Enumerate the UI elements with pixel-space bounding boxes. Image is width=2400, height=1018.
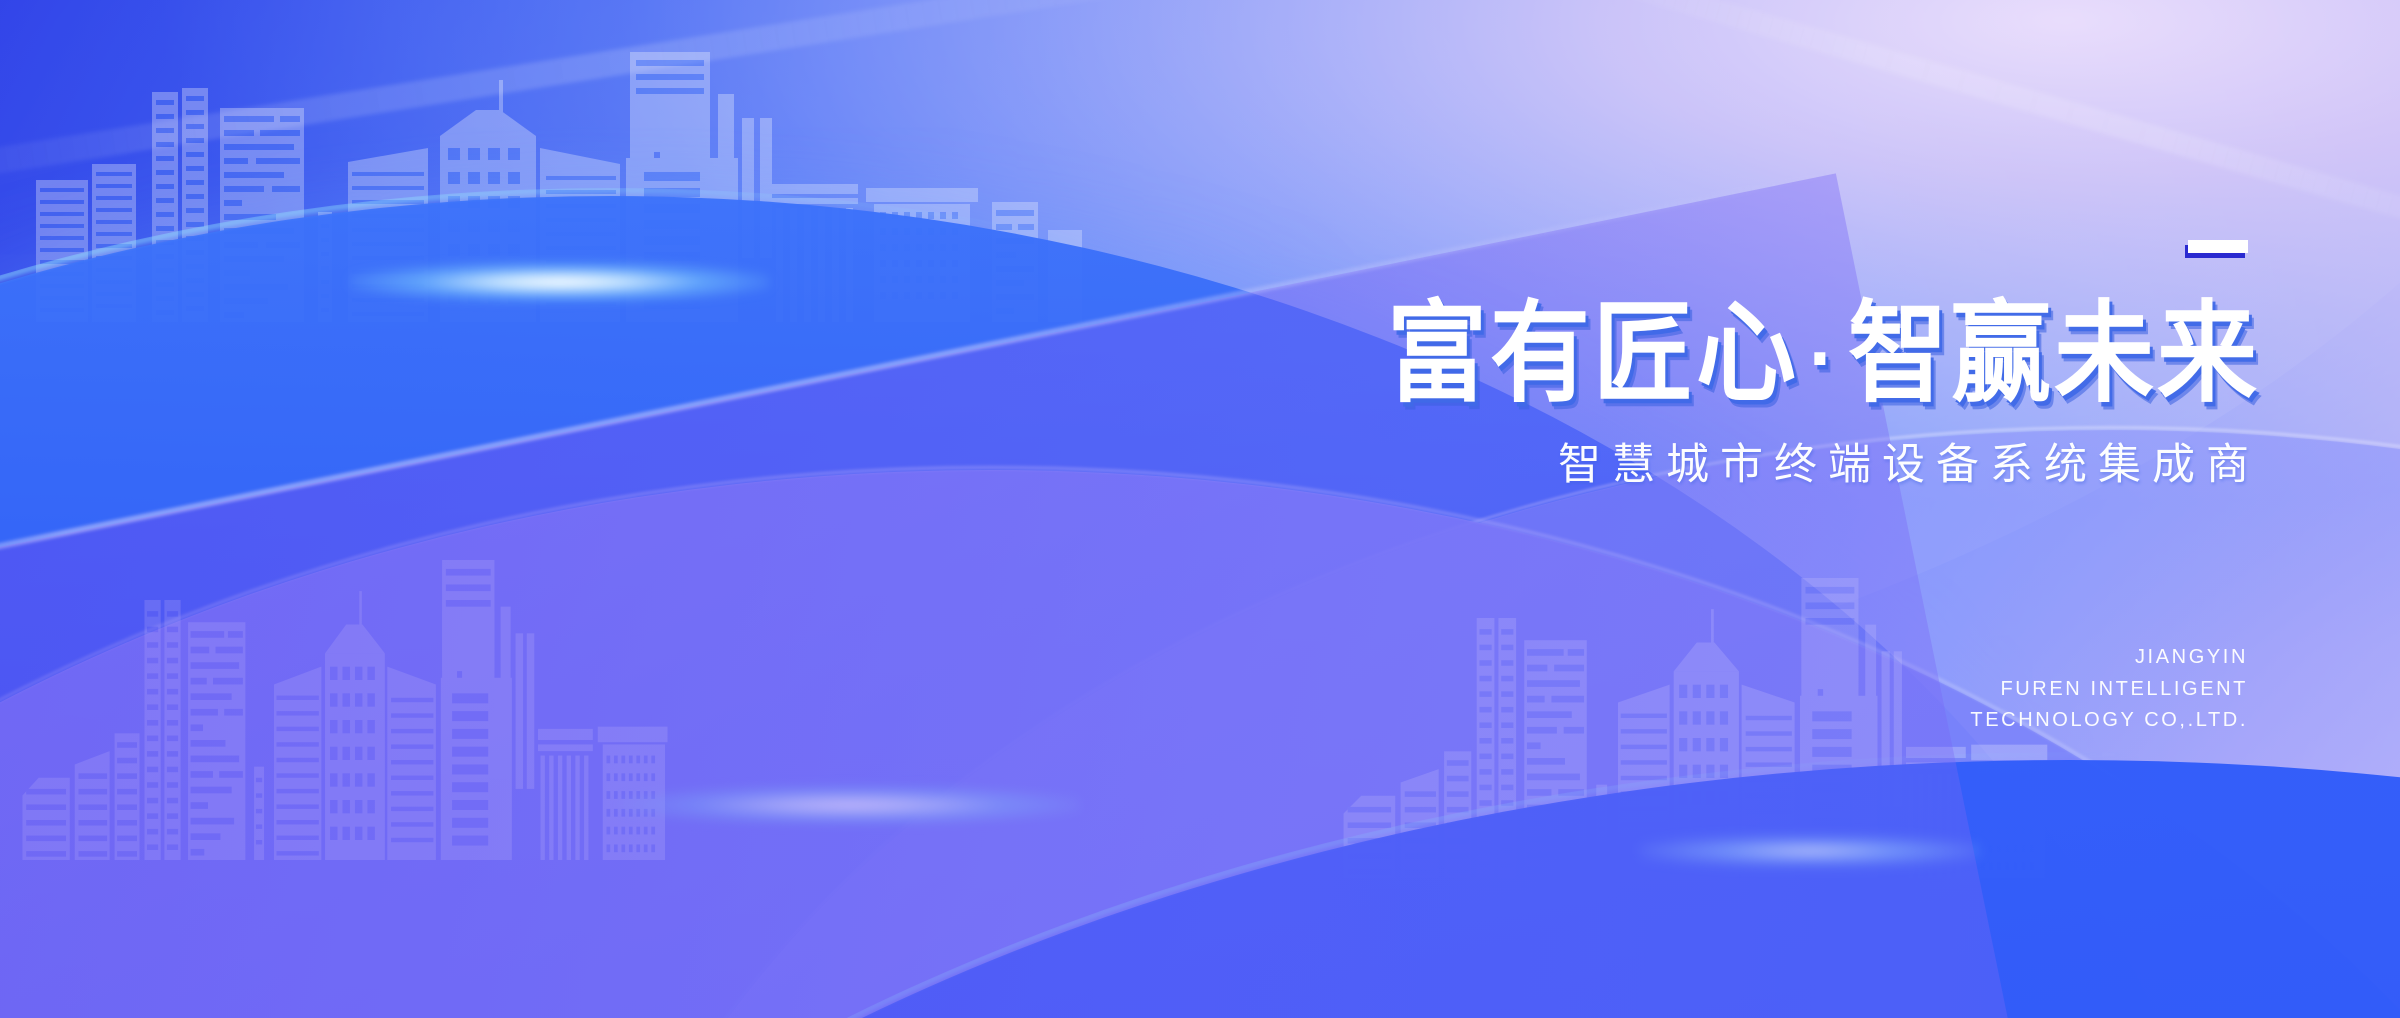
company-line-2: FUREN INTELLIGENT [1970,674,2248,706]
company-line-1: JIANGYIN [1970,642,2248,674]
page-title: 富有匠心·智赢未来 [1200,299,2260,409]
banner-canvas: 富有匠心·智赢未来 智慧城市终端设备系统集成商 JIANGYIN FUREN I… [0,0,2400,1018]
subtitle: 智慧城市终端设备系统集成商 [1200,430,2260,492]
company-name-block: JIANGYIN FUREN INTELLIGENT TECHNOLOGY CO… [1970,642,2248,737]
accent-dash-icon [2188,240,2248,253]
glow-hotspot-top [350,262,770,302]
company-line-3: TECHNOLOGY CO,.LTD. [1970,705,2248,737]
headline-separator: · [1799,309,1848,406]
headline-block: 富有匠心·智赢未来 智慧城市终端设备系统集成商 [1200,240,2260,492]
headline-left: 富有匠心 [1387,292,1799,415]
headline-right: 智赢未来 [1848,292,2260,415]
